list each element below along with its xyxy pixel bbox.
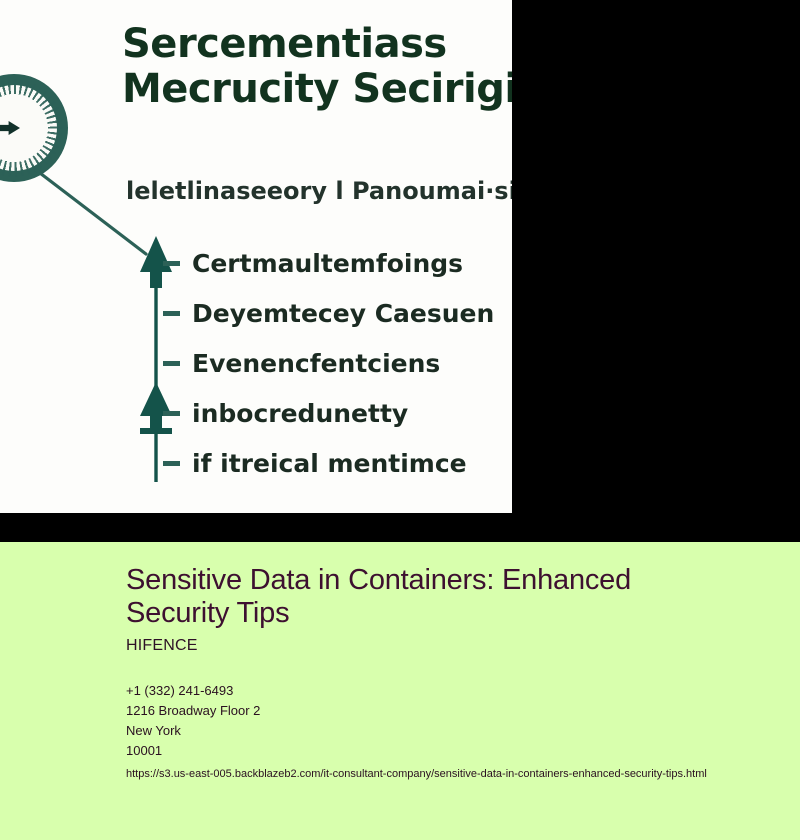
illustration-subheading: leletlinaseeory l Panoumai·sian <box>126 178 512 204</box>
list-item-label: Deyemtecey Caesuen <box>192 299 494 328</box>
circular-seal-icon <box>0 74 68 182</box>
list-item: Evenencfentciens <box>163 338 512 388</box>
contact-phone: +1 (332) 241-6493 <box>126 681 730 701</box>
bullet-dash-icon <box>163 411 180 416</box>
illustration-bullet-list: Certmaultemfoings Deyemtecey Caesuen Eve… <box>163 238 512 488</box>
list-item-label: if itreical mentimce <box>192 449 467 478</box>
bullet-dash-icon <box>163 461 180 466</box>
contact-zip: 10001 <box>126 741 730 761</box>
page-title: Sensitive Data in Containers: Enhanced S… <box>126 564 730 630</box>
bullet-dash-icon <box>163 311 180 316</box>
illustration-heading-line-2: Mecrucity Secirigin <box>122 67 512 112</box>
list-item-label: inbocredunetty <box>192 399 408 428</box>
contact-details: +1 (332) 241-6493 1216 Broadway Floor 2 … <box>126 681 730 761</box>
illustration-heading: Sercementiass Mecrucity Secirigin <box>122 22 512 112</box>
container-security-infographic: Sercementiass Mecrucity Secirigin leletl… <box>0 0 512 513</box>
bullet-dash-icon <box>163 361 180 366</box>
list-item-label: Evenencfentciens <box>192 349 440 378</box>
article-info-card: Sensitive Data in Containers: Enhanced S… <box>0 542 800 840</box>
illustration-letterbox: Sercementiass Mecrucity Secirigin leletl… <box>0 0 800 542</box>
bullet-dash-icon <box>163 261 180 266</box>
contact-street: 1216 Broadway Floor 2 <box>126 701 730 721</box>
illustration-heading-line-1: Sercementiass <box>122 22 512 67</box>
list-item: Deyemtecey Caesuen <box>163 288 512 338</box>
list-item-label: Certmaultemfoings <box>192 249 463 278</box>
page-root: Sercementiass Mecrucity Secirigin leletl… <box>0 0 800 840</box>
contact-city: New York <box>126 721 730 741</box>
list-item: Certmaultemfoings <box>163 238 512 288</box>
list-item: inbocredunetty <box>163 388 512 438</box>
list-item: if itreical mentimce <box>163 438 512 488</box>
source-url[interactable]: https://s3.us-east-005.backblazeb2.com/i… <box>126 766 730 782</box>
brand-name: HIFENCE <box>126 637 730 655</box>
